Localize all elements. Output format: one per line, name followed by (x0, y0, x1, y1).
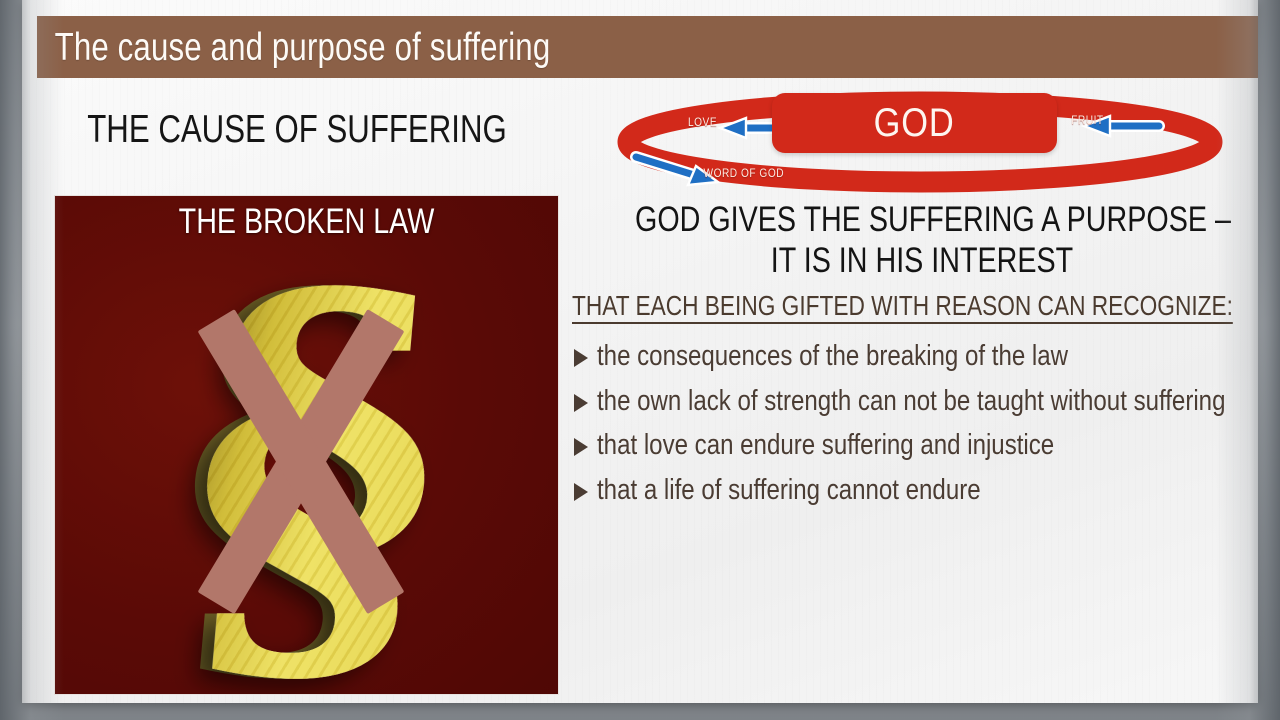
cycle-label-love: LOVE (688, 118, 717, 130)
bullet-text: the own lack of strength can not be taug… (597, 385, 1258, 417)
bullet-text: that a life of suffering cannot endure (597, 474, 1258, 506)
right-column: GOD GIVES THE SUFFERING A PURPOSE – IT I… (572, 200, 1258, 518)
cycle-label-fruit: FRUIT (1071, 116, 1103, 128)
cause-of-suffering-heading: THE CAUSE OF SUFFERING (85, 110, 509, 151)
bullet-text: the consequences of the breaking of the … (597, 340, 1258, 372)
page-title: The cause and purpose of suffering (37, 28, 550, 67)
list-item: the consequences of the breaking of the … (572, 340, 1258, 372)
list-item: that love can endure suffering and injus… (572, 429, 1258, 461)
slide: The cause and purpose of suffering THE C… (22, 0, 1258, 703)
cycle-label-word-of-god: WORD OF GOD (703, 169, 784, 181)
god-center-box: GOD (772, 93, 1057, 153)
purpose-heading-line-1: GOD GIVES THE SUFFERING A PURPOSE – (635, 200, 1209, 241)
purpose-heading: GOD GIVES THE SUFFERING A PURPOSE – IT I… (572, 200, 1258, 281)
section-symbol-stage: § § (55, 214, 558, 695)
god-cycle-diagram: GOD LOVE FRUIT WORD OF GOD (614, 84, 1226, 196)
cross-out-x-icon (201, 297, 401, 627)
god-label: GOD (874, 103, 955, 143)
left-column: THE CAUSE OF SUFFERING (32, 110, 562, 151)
purpose-heading-line-2: IT IS IN HIS INTEREST (635, 241, 1209, 282)
bullet-text: that love can endure suffering and injus… (597, 429, 1258, 461)
recognize-subheading: THAT EACH BEING GIFTED WITH REASON CAN R… (572, 291, 1233, 324)
broken-law-image-panel: THE BROKEN LAW § § (54, 195, 559, 695)
slide-title-bar: The cause and purpose of suffering (37, 16, 1258, 78)
list-item: the own lack of strength can not be taug… (572, 385, 1258, 417)
list-item: that a life of suffering cannot endure (572, 474, 1258, 506)
slide-viewer: The cause and purpose of suffering THE C… (0, 0, 1280, 720)
recognize-bullet-list: the consequences of the breaking of the … (572, 340, 1258, 506)
